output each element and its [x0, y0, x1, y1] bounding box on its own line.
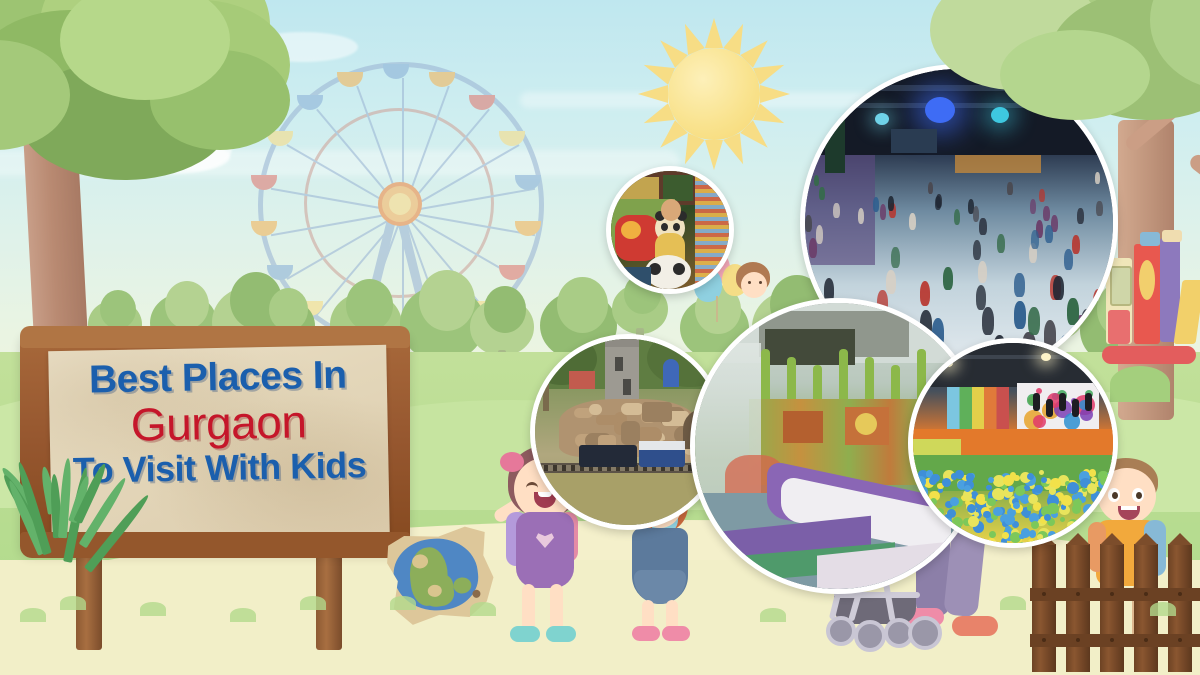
tree-canopy	[419, 270, 475, 331]
sun-ray	[705, 140, 723, 170]
tree-canopy	[1000, 30, 1150, 120]
ice-skater	[1077, 208, 1084, 224]
ball	[1049, 487, 1057, 495]
ice-skater	[880, 204, 886, 219]
ball	[1093, 517, 1098, 522]
fence-nail	[1110, 638, 1114, 642]
ice-skater	[954, 209, 961, 225]
grass-tuft	[230, 608, 256, 622]
ball	[993, 507, 1002, 516]
ice-skater	[1064, 249, 1073, 270]
playground-roof	[1162, 230, 1182, 242]
ice-skater	[935, 196, 941, 210]
ball	[1076, 492, 1083, 499]
fence-nail	[1110, 592, 1114, 596]
grass-tuft	[20, 608, 46, 622]
stroller-wheel	[908, 616, 942, 650]
ice-skater	[1039, 189, 1045, 203]
ice-skater	[928, 182, 933, 195]
leg	[550, 584, 563, 632]
cartoon-face	[855, 413, 877, 435]
photo-trampoline-park[interactable]	[908, 338, 1118, 548]
ice-skater	[982, 307, 994, 335]
mural-figure	[1059, 393, 1066, 411]
ball	[1073, 499, 1081, 507]
panda-eye	[673, 223, 680, 231]
ice-skater	[1095, 172, 1100, 183]
photo-image	[611, 171, 729, 289]
grass-tuft	[760, 608, 786, 622]
sign-line-2: Gurgaon	[49, 397, 388, 449]
photo-detail	[695, 171, 729, 289]
ice-skater	[809, 238, 817, 258]
ice-skater	[886, 270, 896, 294]
mural-figure	[1085, 393, 1092, 411]
fence-nail	[1178, 638, 1182, 642]
ball	[1094, 522, 1106, 534]
stroller-wheel	[826, 616, 856, 646]
ice-skater	[805, 215, 812, 232]
stage-light	[875, 113, 889, 125]
sun-ray	[705, 18, 723, 48]
ball	[967, 537, 973, 543]
red-structure	[569, 371, 595, 389]
ball	[1034, 485, 1043, 494]
face	[741, 272, 767, 298]
child-head	[661, 199, 681, 221]
tree-canopy	[269, 288, 308, 330]
stage-light	[925, 97, 955, 123]
ice-skater	[973, 240, 981, 260]
ball	[1005, 526, 1010, 531]
playground-bush	[1110, 366, 1170, 402]
ice-skater	[1093, 289, 1104, 315]
ice-skater	[888, 196, 894, 210]
figure	[663, 359, 679, 387]
ice-skater	[978, 261, 987, 284]
tree-canopy	[557, 277, 608, 332]
ice-skater	[997, 234, 1005, 253]
ride-detail	[621, 221, 641, 239]
ball	[916, 486, 927, 497]
fence-picket	[1066, 544, 1090, 672]
ice-skater	[1043, 206, 1050, 222]
ice-skater	[1096, 201, 1102, 216]
ball	[1070, 537, 1075, 542]
ice-skater	[1014, 301, 1026, 329]
rock	[596, 415, 618, 425]
shoe	[952, 616, 998, 636]
ferris-wheel-hub	[378, 182, 422, 226]
stage-light	[991, 107, 1009, 123]
fence-nail	[1144, 592, 1148, 596]
tree-canopy	[484, 286, 526, 332]
rock	[589, 404, 602, 415]
sun-ray	[638, 85, 668, 103]
ice-skater	[833, 203, 839, 218]
ceiling-beam	[913, 355, 1113, 359]
photo-detail	[617, 177, 659, 199]
sun-core	[668, 48, 760, 140]
tower-battlement	[605, 339, 639, 347]
ball	[955, 470, 963, 478]
ball	[916, 476, 927, 487]
rink-concession	[955, 155, 1041, 173]
ball	[1031, 521, 1039, 529]
ice-skater	[1007, 182, 1012, 195]
panda-eye	[661, 223, 668, 231]
mural-figure	[1072, 399, 1079, 417]
tree-canopy	[100, 290, 136, 329]
fence-nail	[1042, 638, 1046, 642]
eye	[759, 281, 762, 284]
playground-net	[1110, 266, 1132, 306]
ball	[1087, 533, 1095, 541]
ball	[1015, 486, 1025, 496]
rock	[621, 421, 640, 445]
grass-tuft	[470, 602, 496, 616]
ice-skater	[891, 247, 900, 268]
ball	[974, 512, 979, 517]
pupil	[1136, 492, 1142, 499]
ice-skater	[819, 187, 825, 200]
ice-skater	[1053, 276, 1063, 300]
tree-canopy	[346, 279, 394, 331]
grass-tuft	[1000, 596, 1026, 610]
photo-kids-ride[interactable]	[606, 166, 734, 294]
ice-skater	[909, 213, 916, 230]
ice-skater	[1072, 235, 1080, 254]
ball	[1100, 476, 1111, 487]
rock	[642, 402, 672, 421]
photo-detail	[611, 267, 651, 289]
ball	[921, 505, 931, 515]
ball	[1027, 505, 1032, 510]
mural-figure	[1033, 393, 1040, 411]
ball	[936, 508, 944, 516]
ball	[1070, 527, 1077, 534]
ball	[1047, 503, 1058, 514]
fence-nail	[1076, 638, 1080, 642]
dress-skirt	[634, 570, 686, 604]
stone-tower	[605, 343, 639, 405]
fence-rail	[1030, 634, 1200, 647]
ball	[915, 536, 922, 543]
shoe	[662, 626, 690, 641]
ball	[989, 531, 996, 538]
tree-canopy	[165, 281, 209, 329]
fence-nail	[1042, 592, 1046, 596]
christmas-tree	[825, 117, 845, 173]
mural-figure	[1046, 399, 1053, 417]
photo-image	[913, 343, 1113, 543]
shoe	[510, 626, 540, 642]
ball	[1037, 534, 1043, 540]
ball	[1044, 514, 1051, 521]
playground-base	[1102, 346, 1196, 364]
ceiling-light	[943, 359, 953, 367]
rink-screen	[891, 129, 937, 153]
picket-fence-icon	[1030, 530, 1200, 675]
fence-picket	[1100, 544, 1124, 672]
ball	[1028, 494, 1038, 504]
ball	[1087, 483, 1098, 494]
ball	[1081, 516, 1090, 525]
sun-ray	[760, 85, 790, 103]
ball	[987, 498, 995, 506]
color-banners	[947, 387, 1009, 429]
ice-skater	[943, 267, 953, 290]
ice-skater	[1067, 298, 1078, 325]
tower-window	[615, 357, 623, 371]
fence-nail	[1144, 638, 1148, 642]
ice-skater	[1014, 273, 1024, 297]
leg	[522, 584, 535, 632]
sun-icon	[644, 24, 784, 164]
ball	[1061, 495, 1072, 506]
grass-tuft	[300, 596, 326, 610]
playground-roof	[1140, 232, 1160, 246]
ball	[930, 498, 937, 505]
ice-skater	[873, 197, 879, 212]
ball	[983, 511, 990, 518]
fence-nail	[1076, 592, 1080, 596]
teeth	[1121, 506, 1137, 510]
sign-line-1: Best Places In	[48, 355, 387, 400]
poster-canvas: Best Places In Gurgaon To Visit With Kid…	[0, 0, 1200, 675]
shoe	[546, 626, 576, 642]
grass-tuft	[1150, 602, 1176, 616]
tower-door	[623, 379, 631, 395]
ice-skater	[1030, 199, 1036, 214]
ball	[923, 526, 935, 538]
ice-skater	[816, 225, 824, 243]
pole	[543, 361, 549, 411]
ball	[1029, 530, 1037, 538]
ball	[1060, 517, 1065, 522]
playground-slide-icon	[1106, 228, 1200, 416]
fence-picket	[1032, 544, 1056, 672]
engine-roof	[639, 441, 685, 450]
eye	[748, 281, 751, 284]
ball	[1008, 486, 1013, 491]
shoe	[632, 626, 660, 641]
stroller-wheel	[854, 620, 886, 652]
ball	[1002, 532, 1009, 539]
sign-board: Best Places In Gurgaon To Visit With Kid…	[20, 330, 420, 630]
fence-rail	[1030, 588, 1200, 601]
grass-tuft	[60, 596, 86, 610]
ceiling-light	[1041, 353, 1051, 361]
ball	[942, 478, 951, 487]
ice-skater	[1045, 225, 1053, 243]
ball	[936, 538, 942, 544]
ice-skater	[1028, 307, 1040, 335]
grass-tuft	[390, 596, 416, 610]
ice-skater	[1081, 309, 1093, 338]
ball	[988, 477, 994, 483]
train-car	[579, 445, 637, 467]
ice-skater	[814, 175, 819, 187]
ball	[931, 474, 939, 482]
playground-window	[1139, 260, 1155, 300]
grass-foreground	[535, 473, 721, 525]
ball	[952, 517, 963, 528]
ice-skater	[858, 208, 865, 224]
ice-skater	[973, 206, 980, 222]
panel	[783, 411, 823, 443]
plush-eye	[673, 263, 685, 275]
ball	[1010, 472, 1017, 479]
grass-tuft	[140, 602, 166, 616]
ball	[1028, 539, 1034, 545]
ball	[1018, 542, 1025, 548]
fence-nail	[1178, 592, 1182, 596]
ball	[976, 494, 986, 504]
ice-skater	[1031, 230, 1039, 249]
ice-skater	[979, 218, 986, 235]
map-marker	[472, 589, 481, 598]
photo-detail	[663, 175, 693, 201]
